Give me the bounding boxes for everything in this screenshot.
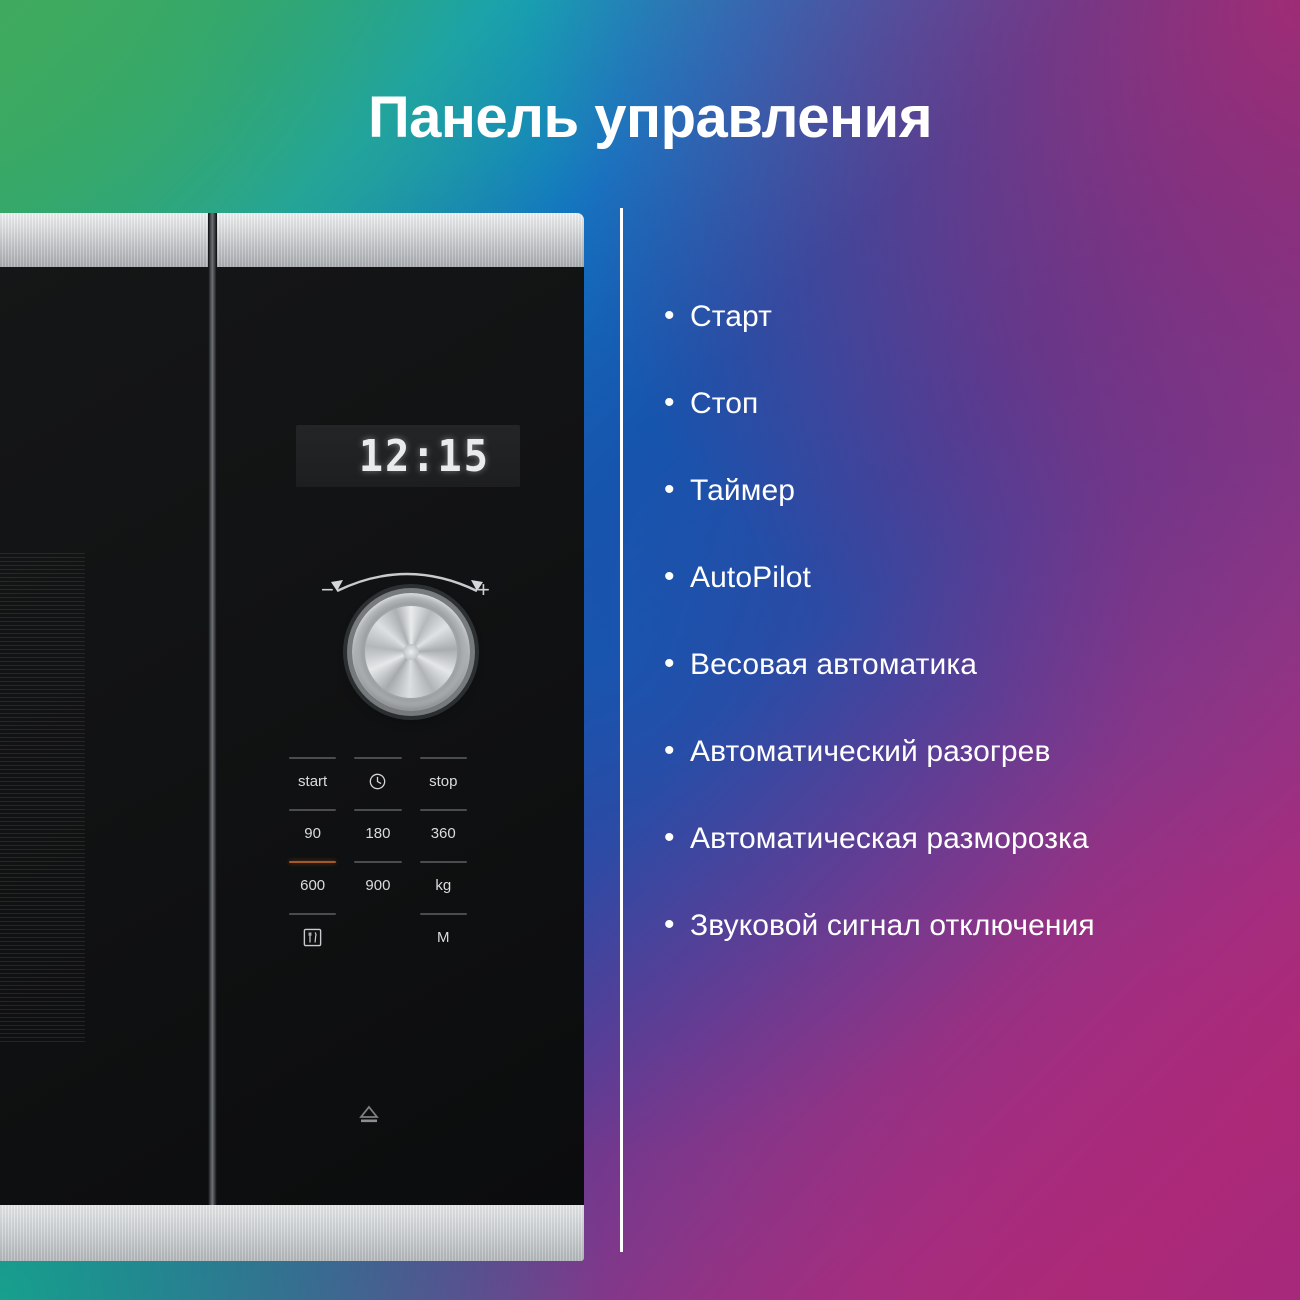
bullet-icon: • bbox=[664, 561, 690, 593]
list-item: •Звуковой сигнал отключения bbox=[664, 909, 1264, 943]
bullet-icon: • bbox=[664, 300, 690, 332]
clock-icon bbox=[368, 772, 387, 791]
button-indicator bbox=[354, 913, 401, 915]
feature-list: •Старт•Стоп•Таймер•AutoPilot•Весовая авт… bbox=[664, 300, 1264, 996]
feature-label: Старт bbox=[690, 300, 772, 334]
bullet-icon: • bbox=[664, 822, 690, 854]
touch-button-label: start bbox=[298, 774, 327, 789]
touch-button-start[interactable]: start bbox=[280, 755, 345, 807]
touch-button-empty bbox=[345, 911, 410, 963]
touch-button-label: 180 bbox=[365, 826, 390, 841]
clock-display: 12:15 bbox=[296, 425, 520, 487]
button-indicator bbox=[289, 757, 336, 759]
touch-button-label: M bbox=[437, 930, 450, 945]
touch-button-utensils[interactable] bbox=[280, 911, 345, 963]
button-row: 600900kg bbox=[280, 859, 476, 911]
bullet-icon: • bbox=[664, 909, 690, 941]
touch-button-M[interactable]: M bbox=[411, 911, 476, 963]
microwave-control-panel: 12:15 − + startstop90180360600900kgM bbox=[0, 213, 584, 1261]
button-row: M bbox=[280, 911, 476, 963]
knob-minus-label: − bbox=[321, 579, 334, 601]
page-title: Панель управления bbox=[0, 84, 1300, 151]
touch-button-label: 600 bbox=[300, 878, 325, 893]
button-indicator bbox=[354, 809, 401, 811]
bullet-icon: • bbox=[664, 648, 690, 680]
door-panel-seam bbox=[208, 213, 217, 1261]
list-item: •AutoPilot bbox=[664, 561, 1264, 595]
touch-button-360[interactable]: 360 bbox=[411, 807, 476, 859]
rotary-knob[interactable] bbox=[352, 593, 470, 711]
list-item: •Весовая автоматика bbox=[664, 648, 1264, 682]
button-row: 90180360 bbox=[280, 807, 476, 859]
button-indicator bbox=[289, 809, 336, 811]
touch-button-600[interactable]: 600 bbox=[280, 859, 345, 911]
bullet-icon: • bbox=[664, 474, 690, 506]
feature-label: Автоматическая разморозка bbox=[690, 822, 1089, 856]
button-indicator bbox=[420, 757, 467, 759]
list-item: •Таймер bbox=[664, 474, 1264, 508]
touch-button-stop[interactable]: stop bbox=[411, 755, 476, 807]
utensils-icon bbox=[303, 928, 322, 947]
touch-button-grid[interactable]: startstop90180360600900kgM bbox=[280, 755, 476, 963]
bullet-icon: • bbox=[664, 387, 690, 419]
vertical-divider bbox=[620, 208, 623, 1252]
display-time-value: 12:15 bbox=[358, 431, 513, 482]
knob-plus-label: + bbox=[477, 579, 490, 601]
steel-trim-top bbox=[0, 213, 584, 269]
list-item: •Старт bbox=[664, 300, 1264, 334]
list-item: •Автоматический разогрев bbox=[664, 735, 1264, 769]
button-indicator bbox=[289, 913, 336, 915]
touch-button-label: 360 bbox=[431, 826, 456, 841]
list-item: •Автоматическая разморозка bbox=[664, 822, 1264, 856]
button-indicator bbox=[354, 757, 401, 759]
black-glass-front: 12:15 − + startstop90180360600900kgM bbox=[0, 267, 584, 1207]
feature-label: AutoPilot bbox=[690, 561, 811, 595]
touch-button-kg[interactable]: kg bbox=[411, 859, 476, 911]
feature-label: Звуковой сигнал отключения bbox=[690, 909, 1095, 943]
feature-label: Стоп bbox=[690, 387, 758, 421]
touch-button-label: stop bbox=[429, 774, 457, 789]
touch-button-label: kg bbox=[435, 878, 451, 893]
steel-trim-bottom bbox=[0, 1205, 584, 1261]
touch-button-900[interactable]: 900 bbox=[345, 859, 410, 911]
button-indicator bbox=[354, 861, 401, 863]
eject-icon[interactable] bbox=[358, 1104, 380, 1124]
touch-button-90[interactable]: 90 bbox=[280, 807, 345, 859]
poster-canvas: Панель управления 12:15 − + sta bbox=[0, 0, 1300, 1300]
feature-label: Весовая автоматика bbox=[690, 648, 977, 682]
button-indicator-active bbox=[289, 861, 336, 863]
touch-button-label: 900 bbox=[365, 878, 390, 893]
rotary-knob-zone[interactable]: − + bbox=[307, 555, 507, 723]
touch-button-180[interactable]: 180 bbox=[345, 807, 410, 859]
button-indicator bbox=[420, 913, 467, 915]
door-vent-grille bbox=[0, 553, 85, 1043]
feature-label: Таймер bbox=[690, 474, 795, 508]
list-item: •Стоп bbox=[664, 387, 1264, 421]
button-indicator bbox=[420, 809, 467, 811]
button-row: startstop bbox=[280, 755, 476, 807]
bullet-icon: • bbox=[664, 735, 690, 767]
button-indicator bbox=[420, 861, 467, 863]
feature-label: Автоматический разогрев bbox=[690, 735, 1051, 769]
touch-button-clock[interactable] bbox=[345, 755, 410, 807]
touch-button-label: 90 bbox=[304, 826, 321, 841]
